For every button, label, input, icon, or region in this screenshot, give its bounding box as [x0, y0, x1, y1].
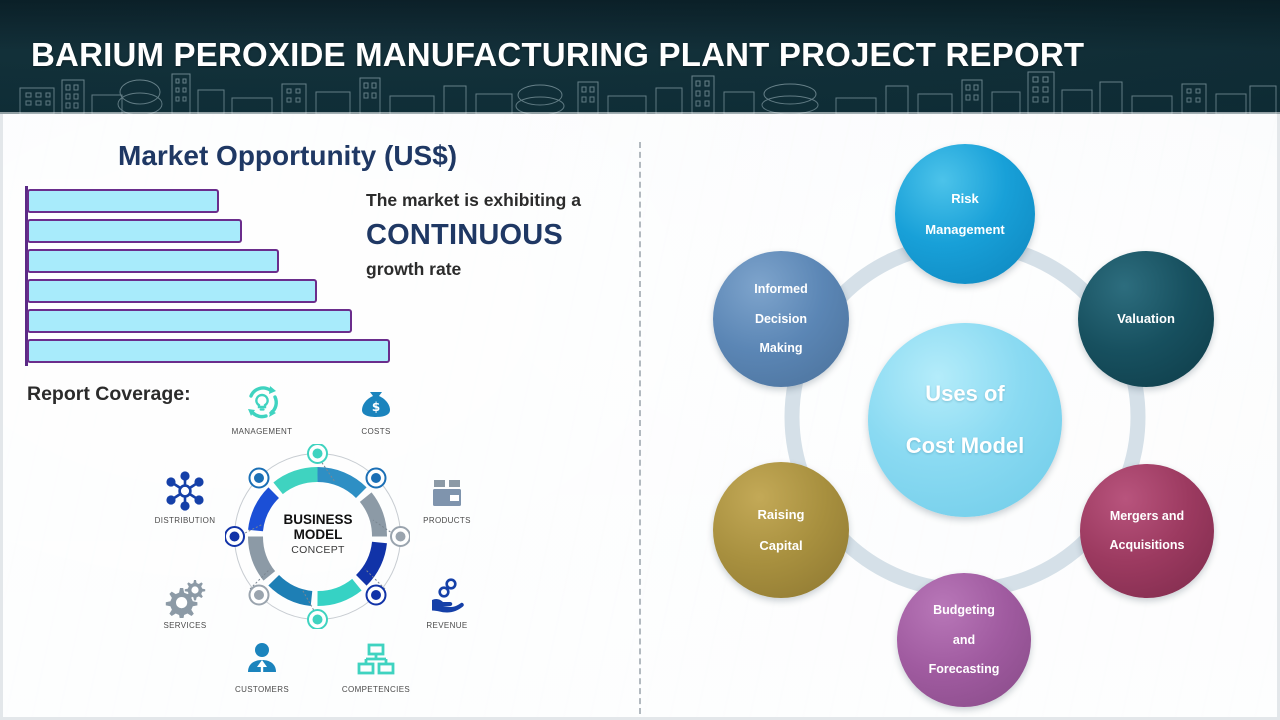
- slide-root: BARIUM PEROXIDE MANUFACTURING PLANT PROJ…: [0, 0, 1280, 720]
- page-title: BARIUM PEROXIDE MANUFACTURING PLANT PROJ…: [31, 36, 1084, 74]
- node-label-line: Making: [748, 341, 813, 356]
- node-raising-capital[interactable]: Raising Capital: [713, 462, 849, 598]
- node-label-line: and: [923, 633, 1006, 648]
- slide-body: Market Opportunity (US$) The market is e…: [0, 114, 1280, 720]
- cost-model-ring: [50, 114, 1280, 720]
- node-label-line: Valuation: [1111, 311, 1181, 326]
- node-label-line: Acquisitions: [1103, 538, 1190, 553]
- node-mergers-and-acquisitions[interactable]: Mergers and Acquisitions: [1080, 464, 1214, 598]
- node-valuation[interactable]: Valuation: [1078, 251, 1214, 387]
- node-label-line: Forecasting: [923, 662, 1006, 677]
- node-label-line: Raising: [752, 507, 811, 522]
- node-label-line: Budgeting: [923, 603, 1006, 618]
- node-label-line: Risk: [919, 191, 1010, 206]
- node-informed-decision-making[interactable]: Informed Decision Making: [713, 251, 849, 387]
- left-border: [0, 114, 3, 720]
- slide-header: BARIUM PEROXIDE MANUFACTURING PLANT PROJ…: [0, 0, 1280, 114]
- node-label-line: Decision: [748, 312, 813, 327]
- center-node-line-2: Cost Model: [900, 433, 1031, 459]
- node-risk-management[interactable]: Risk Management: [895, 144, 1035, 284]
- center-node-uses-of-cost-model[interactable]: Uses of Cost Model: [868, 323, 1062, 517]
- node-label-line: Capital: [752, 538, 811, 553]
- center-node-line-1: Uses of: [900, 381, 1031, 407]
- node-label-line: Mergers and: [1103, 509, 1190, 524]
- node-label-line: Management: [919, 222, 1010, 237]
- node-label-line: Informed: [748, 282, 813, 297]
- node-budgeting-and-forecasting[interactable]: Budgeting and Forecasting: [897, 573, 1031, 707]
